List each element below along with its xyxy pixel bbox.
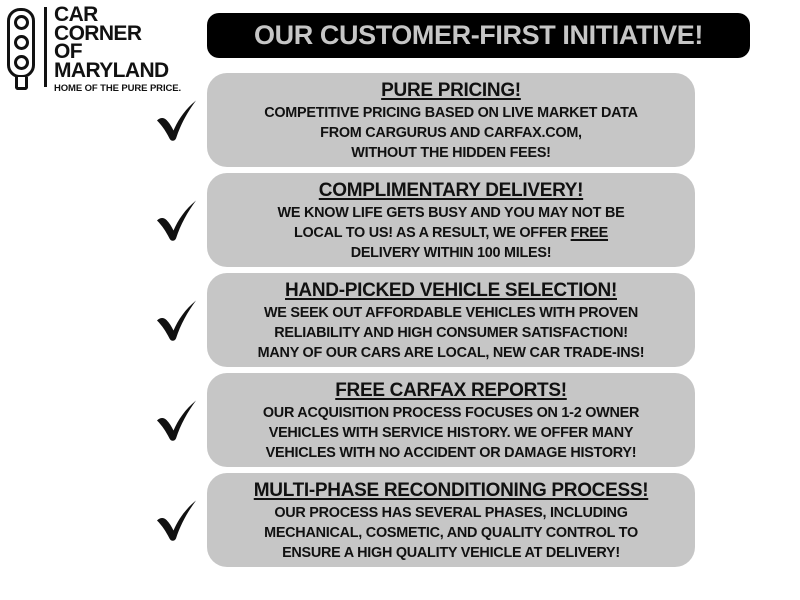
body-text: WITHOUT THE HIDDEN FEES! bbox=[351, 145, 550, 161]
benefit-card[interactable]: PURE PRICING!COMPETITIVE PRICING BASED O… bbox=[207, 73, 695, 167]
benefit-card-body: OUR PROCESS HAS SEVERAL PHASES, INCLUDIN… bbox=[264, 503, 638, 563]
benefit-card-row: FREE CARFAX REPORTS!OUR ACQUISITION PROC… bbox=[0, 373, 800, 467]
benefit-card-body-line: WE KNOW LIFE GETS BUSY AND YOU MAY NOT B… bbox=[278, 203, 625, 223]
emphasis-text: FREE bbox=[571, 225, 608, 241]
benefit-card-heading: HAND-PICKED VEHICLE SELECTION! bbox=[285, 279, 617, 303]
benefit-card-heading: FREE CARFAX REPORTS! bbox=[335, 379, 567, 403]
body-text: MANY OF OUR CARS ARE LOCAL, NEW CAR TRAD… bbox=[258, 345, 645, 361]
benefit-card-body-line: LOCAL TO US! AS A RESULT, WE OFFER FREE bbox=[278, 223, 625, 243]
body-text: ENSURE A HIGH QUALITY VEHICLE AT DELIVER… bbox=[282, 545, 620, 561]
body-text: COMPETITIVE PRICING BASED ON LIVE MARKET… bbox=[264, 105, 638, 121]
benefit-card[interactable]: COMPLIMENTARY DELIVERY!WE KNOW LIFE GETS… bbox=[207, 173, 695, 267]
benefit-card-body: COMPETITIVE PRICING BASED ON LIVE MARKET… bbox=[264, 103, 638, 163]
body-text: LOCAL TO US! AS A RESULT, WE OFFER bbox=[294, 225, 571, 241]
body-text: OUR PROCESS HAS SEVERAL PHASES, INCLUDIN… bbox=[274, 505, 627, 521]
benefit-card-body-line: MANY OF OUR CARS ARE LOCAL, NEW CAR TRAD… bbox=[258, 343, 645, 363]
benefit-card-body-line: MECHANICAL, COSMETIC, AND QUALITY CONTRO… bbox=[264, 523, 638, 543]
traffic-light-lamp-bottom bbox=[14, 55, 29, 70]
benefit-card-body-line: WITHOUT THE HIDDEN FEES! bbox=[264, 143, 638, 163]
checkmark-icon bbox=[152, 293, 206, 347]
body-text: WE SEEK OUT AFFORDABLE VEHICLES WITH PRO… bbox=[264, 305, 638, 321]
benefit-card-body-line: RELIABILITY AND HIGH CONSUMER SATISFACTI… bbox=[258, 323, 645, 343]
benefit-card-row: HAND-PICKED VEHICLE SELECTION!WE SEEK OU… bbox=[0, 273, 800, 367]
benefit-card[interactable]: FREE CARFAX REPORTS!OUR ACQUISITION PROC… bbox=[207, 373, 695, 467]
benefit-card[interactable]: MULTI-PHASE RECONDITIONING PROCESS!OUR P… bbox=[207, 473, 695, 567]
benefit-card-body-line: WE SEEK OUT AFFORDABLE VEHICLES WITH PRO… bbox=[258, 303, 645, 323]
benefit-card-body-line: VEHICLES WITH NO ACCIDENT OR DAMAGE HIST… bbox=[263, 443, 639, 463]
promo-page: CAR CORNER OF MARYLAND HOME OF THE PURE … bbox=[0, 0, 800, 600]
checkmark-icon bbox=[152, 493, 206, 547]
benefit-card-row: COMPLIMENTARY DELIVERY!WE KNOW LIFE GETS… bbox=[0, 173, 800, 267]
traffic-light-lamp-middle bbox=[14, 35, 29, 50]
benefit-card-body: OUR ACQUISITION PROCESS FOCUSES ON 1-2 O… bbox=[263, 403, 639, 463]
body-text: VEHICLES WITH SERVICE HISTORY. WE OFFER … bbox=[269, 425, 634, 441]
benefit-card-row: MULTI-PHASE RECONDITIONING PROCESS!OUR P… bbox=[0, 473, 800, 567]
checkmark-icon bbox=[152, 93, 206, 147]
body-text: RELIABILITY AND HIGH CONSUMER SATISFACTI… bbox=[274, 325, 628, 341]
body-text: WE KNOW LIFE GETS BUSY AND YOU MAY NOT B… bbox=[278, 205, 625, 221]
benefit-card-body: WE KNOW LIFE GETS BUSY AND YOU MAY NOT B… bbox=[278, 203, 625, 263]
traffic-light-lamp-top bbox=[14, 15, 29, 30]
body-text: FROM CARGURUS AND CARFAX.COM, bbox=[320, 125, 582, 141]
benefit-card-body-line: OUR PROCESS HAS SEVERAL PHASES, INCLUDIN… bbox=[264, 503, 638, 523]
benefit-card-body-line: DELIVERY WITHIN 100 MILES! bbox=[278, 243, 625, 263]
headline-banner: OUR CUSTOMER-FIRST INITIATIVE! bbox=[207, 13, 750, 58]
benefit-card-body-line: FROM CARGURUS AND CARFAX.COM, bbox=[264, 123, 638, 143]
body-text: VEHICLES WITH NO ACCIDENT OR DAMAGE HIST… bbox=[266, 445, 637, 461]
benefit-card-body-line: OUR ACQUISITION PROCESS FOCUSES ON 1-2 O… bbox=[263, 403, 639, 423]
headline-text: OUR CUSTOMER-FIRST INITIATIVE! bbox=[254, 20, 703, 51]
benefit-card-body: WE SEEK OUT AFFORDABLE VEHICLES WITH PRO… bbox=[258, 303, 645, 363]
benefit-card-body-line: COMPETITIVE PRICING BASED ON LIVE MARKET… bbox=[264, 103, 638, 123]
benefit-card[interactable]: HAND-PICKED VEHICLE SELECTION!WE SEEK OU… bbox=[207, 273, 695, 367]
checkmark-icon bbox=[152, 193, 206, 247]
benefit-card-heading: MULTI-PHASE RECONDITIONING PROCESS! bbox=[254, 479, 649, 503]
body-text: DELIVERY WITHIN 100 MILES! bbox=[351, 245, 552, 261]
benefit-card-body-line: VEHICLES WITH SERVICE HISTORY. WE OFFER … bbox=[263, 423, 639, 443]
benefit-card-list: PURE PRICING!COMPETITIVE PRICING BASED O… bbox=[0, 73, 800, 573]
body-text: MECHANICAL, COSMETIC, AND QUALITY CONTRO… bbox=[264, 525, 638, 541]
benefit-card-row: PURE PRICING!COMPETITIVE PRICING BASED O… bbox=[0, 73, 800, 167]
body-text: OUR ACQUISITION PROCESS FOCUSES ON 1-2 O… bbox=[263, 405, 639, 421]
benefit-card-heading: COMPLIMENTARY DELIVERY! bbox=[319, 179, 583, 203]
benefit-card-body-line: ENSURE A HIGH QUALITY VEHICLE AT DELIVER… bbox=[264, 543, 638, 563]
checkmark-icon bbox=[152, 393, 206, 447]
benefit-card-heading: PURE PRICING! bbox=[381, 79, 521, 103]
header: CAR CORNER OF MARYLAND HOME OF THE PURE … bbox=[0, 0, 800, 72]
